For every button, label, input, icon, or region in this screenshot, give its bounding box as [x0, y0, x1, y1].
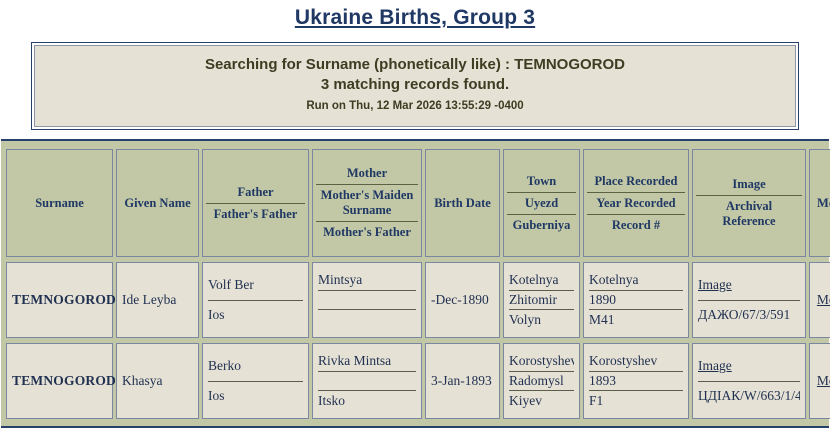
- cell-mother: Rivka Mintsa Itsko: [312, 343, 422, 419]
- cell-more: More: [809, 343, 830, 419]
- table-row[interactable]: TEMNOGOROD Khasya Berko Ios Rivka Mintsa…: [6, 343, 830, 419]
- page-title: Ukraine Births, Group 3: [0, 0, 830, 30]
- results-table-container: Surname Given Name Father Father's Fathe…: [1, 139, 829, 428]
- cell-record-number: M41: [589, 309, 683, 329]
- column-header-birth-date: Birth Date: [425, 149, 500, 257]
- column-header-surname-label: Surname: [35, 196, 84, 210]
- cell-father-name: Volf Ber: [208, 271, 303, 300]
- cell-given-name: Khasya: [116, 343, 199, 419]
- column-header-birth-date-label: Birth Date: [434, 196, 491, 210]
- more-link[interactable]: More: [817, 373, 830, 388]
- column-header-surname: Surname: [6, 149, 113, 257]
- run-timestamp-text: Run on Thu, 12 Mar 2026 13:55:29 -0400: [41, 97, 789, 115]
- cell-father: Berko Ios: [202, 343, 309, 419]
- column-header-town: Town Uyezd Guberniya: [503, 149, 580, 257]
- cell-fathers-father-name: Ios: [208, 300, 303, 330]
- column-header-mothers-father-label: Mother's Father: [316, 221, 418, 243]
- cell-place-recorded: Kotelnya 1890 M41: [583, 262, 689, 338]
- cell-mothers-father-name: [318, 309, 416, 329]
- cell-town-name: Korostyshev: [509, 352, 574, 371]
- cell-image: Image ЦДІАК/W/663/1/40: [692, 343, 806, 419]
- search-summary-panel: Searching for Surname (phonetically like…: [31, 42, 799, 130]
- cell-place-recorded: Korostyshev 1893 F1: [583, 343, 689, 419]
- cell-more: More: [809, 262, 830, 338]
- column-header-record-number-label: Record #: [587, 214, 685, 236]
- column-header-father: Father Father's Father: [202, 149, 309, 257]
- column-header-place-recorded: Place Recorded Year Recorded Record #: [583, 149, 689, 257]
- cell-mother: Mintsya: [312, 262, 422, 338]
- cell-uyezd-name: Radomysl: [509, 371, 574, 391]
- cell-year-recorded: 1890: [589, 290, 683, 310]
- archival-reference-text: ЦДІАК/W/663/1/40: [698, 388, 800, 403]
- cell-year-recorded: 1893: [589, 371, 683, 391]
- column-header-uyezd-label: Uyezd: [507, 192, 576, 214]
- archival-reference-text: ДАЖО/67/3/591: [698, 307, 800, 322]
- column-header-given-name: Given Name: [116, 149, 199, 257]
- search-summary-box: Searching for Surname (phonetically like…: [34, 45, 796, 127]
- column-header-image: Image Archival Reference: [692, 149, 806, 257]
- cell-surname: TEMNOGOROD: [6, 343, 113, 419]
- cell-father: Volf Ber Ios: [202, 262, 309, 338]
- cell-fathers-father-name: Ios: [208, 381, 303, 411]
- column-header-more-label: More: [817, 196, 830, 210]
- cell-mothers-father-name: Itsko: [318, 390, 416, 410]
- column-header-father-label: Father: [206, 182, 305, 203]
- cell-mothers-maiden-surname: [318, 290, 416, 310]
- cell-surname: TEMNOGOROD: [6, 262, 113, 338]
- column-header-image-label: Image: [696, 174, 802, 195]
- column-header-archival-reference-label: Archival Reference: [696, 195, 802, 232]
- cell-birth-date: 3-Jan-1893: [425, 343, 500, 419]
- cell-guberniya-name: Kiyev: [509, 390, 574, 410]
- column-header-mothers-maiden-surname-label: Mother's Maiden Surname: [316, 184, 418, 221]
- archival-reference-container: ДАЖО/67/3/591: [698, 300, 800, 330]
- column-header-mother-label: Mother: [316, 163, 418, 184]
- archival-reference-container: ЦДІАК/W/663/1/40: [698, 381, 800, 411]
- search-criteria-text: Searching for Surname (phonetically like…: [41, 55, 789, 75]
- cell-place-recorded-name: Korostyshev: [589, 352, 683, 371]
- column-header-more: More: [809, 149, 830, 257]
- cell-place-recorded-name: Kotelnya: [589, 271, 683, 290]
- column-header-place-recorded-label: Place Recorded: [587, 171, 685, 192]
- column-header-guberniya-label: Guberniya: [507, 214, 576, 236]
- table-header-row: Surname Given Name Father Father's Fathe…: [6, 149, 830, 257]
- image-link[interactable]: Image: [698, 277, 732, 293]
- cell-father-name: Berko: [208, 352, 303, 381]
- cell-mother-name: Mintsya: [318, 271, 416, 290]
- match-count-text: 3 matching records found.: [41, 75, 789, 95]
- cell-uyezd-name: Zhitomir: [509, 290, 574, 310]
- image-link-container: Image: [698, 352, 800, 381]
- cell-town-name: Kotelnya: [509, 271, 574, 290]
- column-header-year-recorded-label: Year Recorded: [587, 192, 685, 214]
- column-header-mother: Mother Mother's Maiden Surname Mother's …: [312, 149, 422, 257]
- cell-record-number: F1: [589, 390, 683, 410]
- table-row[interactable]: TEMNOGOROD Ide Leyba Volf Ber Ios Mintsy…: [6, 262, 830, 338]
- cell-town: Korostyshev Radomysl Kiyev: [503, 343, 580, 419]
- column-header-town-label: Town: [507, 171, 576, 192]
- cell-town: Kotelnya Zhitomir Volyn: [503, 262, 580, 338]
- cell-given-name: Ide Leyba: [116, 262, 199, 338]
- image-link[interactable]: Image: [698, 358, 732, 374]
- cell-mother-name: Rivka Mintsa: [318, 352, 416, 371]
- column-header-fathers-father-label: Father's Father: [206, 203, 305, 225]
- cell-birth-date: -Dec-1890: [425, 262, 500, 338]
- cell-mothers-maiden-surname: [318, 371, 416, 391]
- more-link[interactable]: More: [817, 292, 830, 307]
- cell-guberniya-name: Volyn: [509, 309, 574, 329]
- results-table: Surname Given Name Father Father's Fathe…: [3, 144, 830, 424]
- image-link-container: Image: [698, 271, 800, 300]
- results-table-body: TEMNOGOROD Ide Leyba Volf Ber Ios Mintsy…: [6, 262, 830, 419]
- cell-image: Image ДАЖО/67/3/591: [692, 262, 806, 338]
- column-header-given-name-label: Given Name: [124, 196, 190, 210]
